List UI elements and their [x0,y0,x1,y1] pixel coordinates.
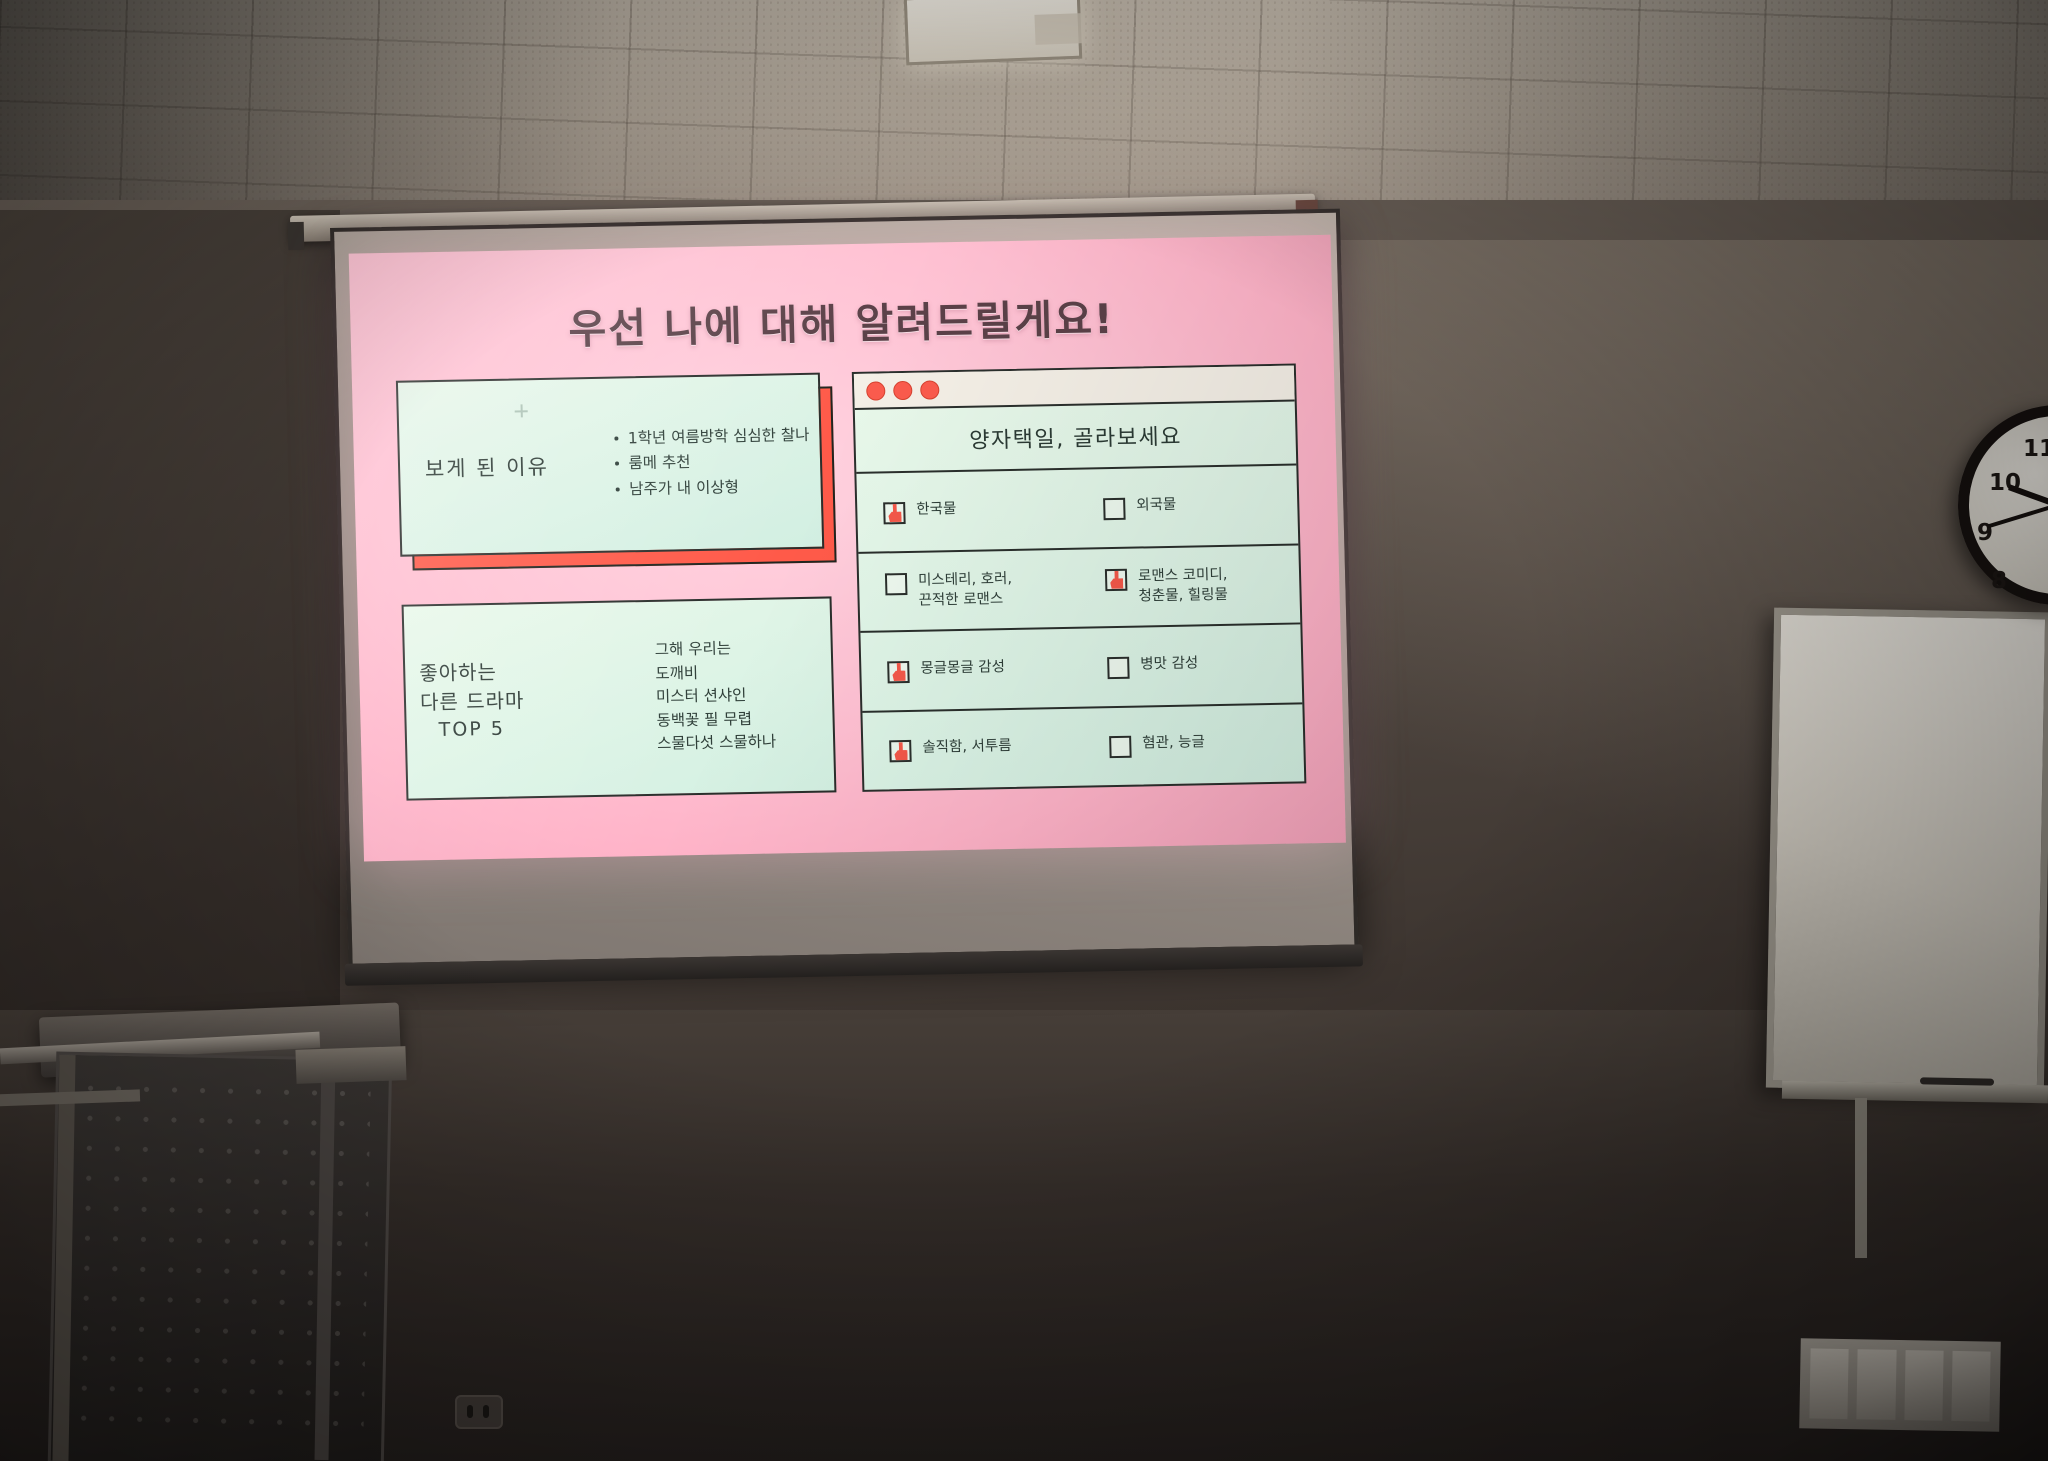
option-honest-awkward[interactable]: 솔직함, 서투름 [863,735,1084,763]
list-item: 도깨비 [655,659,832,686]
clock-minute-hand [1987,503,2048,528]
option-label: 병맛 감성 [1140,653,1198,675]
checkbox-checked-icon[interactable] [883,502,906,524]
clock-hour-hand [2008,484,2048,507]
drama-list: 그해 우리는 도깨비 미스터 션샤인 동백꽃 필 무렵 스물다섯 스물하나 [615,636,834,758]
option-label: 혐관, 능글 [1142,733,1205,755]
projection-screen: 우선 나에 대해 알려드릴게요! 보게 된 이유 1학년 여름방학 심심한 찰나 [330,208,1369,987]
list-item: 그해 우리는 [655,636,832,663]
option-row: 한국물 외국물 [856,465,1298,553]
whiteboard [1766,608,2048,1093]
right-column: 양자택일, 골라보세요 한국물 외국물 [852,363,1307,821]
option-label: 솔직함, 서투름 [922,736,1012,758]
favourite-dramas-card: 좋아하는 다른 드라마 TOP 5 그해 우리는 도깨비 미스터 션샤인 동백꽃… [402,596,837,800]
clock-numeral: 11 [2023,436,2048,462]
label-line-1: 좋아하는 [419,660,497,685]
label-line-2: 다른 드라마 [420,689,525,715]
reason-card: 보게 된 이유 1학년 여름방학 심심한 찰나 룸메 추천 남주가 내 이상형 [396,373,824,557]
wall-outlet [455,1395,503,1429]
left-column: 보게 된 이유 1학년 여름방학 심심한 찰나 룸메 추천 남주가 내 이상형 [396,373,837,831]
window-heading: 양자택일, 골라보세요 [855,402,1297,474]
favourite-dramas-label: 좋아하는 다른 드라마 TOP 5 [405,656,617,746]
presentation-slide: 우선 나에 대해 알려드릴게요! 보게 된 이유 1학년 여름방학 심심한 찰나 [349,235,1346,862]
checkbox-icon[interactable] [1103,498,1126,520]
checkbox-icon[interactable] [1107,656,1130,678]
list-item: 룸메 추천 [613,448,810,477]
option-row: 몽글몽글 감성 병맛 감성 [860,624,1302,712]
checkbox-checked-icon[interactable] [1105,568,1128,590]
checkbox-icon[interactable] [885,573,908,595]
list-item: 동백꽃 필 무렵 [656,706,833,733]
option-label: 외국물 [1136,495,1177,516]
option-label: 로맨스 코미디,청춘물, 힐링물 [1138,565,1228,608]
roller-cap-left [288,222,305,250]
list-item: 남주가 내 이상형 [614,473,811,502]
list-item: 1학년 여름방학 심심한 찰나 [613,423,810,452]
whiteboard-marker [1920,1077,1994,1085]
option-crazy-mood[interactable]: 병맛 감성 [1081,651,1302,679]
option-label: 몽글몽글 감성 [920,657,1005,679]
option-label: 미스테리, 호러,끈적한 로맨스 [918,569,1013,612]
list-item: 스물다섯 스물하나 [657,730,834,757]
option-enemies-to-lovers[interactable]: 혐관, 능글 [1083,731,1304,759]
podium-side-board [295,1046,406,1084]
checkbox-icon[interactable] [1109,736,1132,758]
radiator-fin [1904,1350,1943,1421]
reason-bullet-list: 1학년 여름방학 심심한 찰나 룸메 추천 남주가 내 이상형 [573,423,821,503]
radiator-fin [1951,1351,1990,1422]
clock-numeral: 8 [1991,568,2007,594]
window-dot-minimize-icon[interactable] [893,380,912,399]
crosshair-icon [515,404,528,417]
radiator-fin [1857,1349,1896,1420]
screen-surface: 우선 나에 대해 알려드릴게요! 보게 된 이유 1학년 여름방학 심심한 찰나 [330,209,1359,968]
reason-card-wrapper: 보게 된 이유 1학년 여름방학 심심한 찰나 룸메 추천 남주가 내 이상형 [396,373,831,571]
option-foreign-drama[interactable]: 외국물 [1077,492,1298,520]
option-row: 솔직함, 서투름 혐관, 능글 [862,704,1304,790]
window-mock-panel: 양자택일, 골라보세요 한국물 외국물 [852,363,1307,791]
ceiling-light-fixture-secondary [1034,13,1083,45]
radiator-fin [1809,1348,1848,1419]
label-line-3: TOP 5 [420,714,617,745]
wall-radiator [1799,1338,2001,1431]
option-row: 미스테리, 호러,끈적한 로맨스 로맨스 코미디,청춘물, 힐링물 [858,545,1300,633]
option-label: 한국물 [916,499,957,520]
slide-body: 보게 된 이유 1학년 여름방학 심심한 찰나 룸메 추천 남주가 내 이상형 [396,363,1307,830]
checkbox-checked-icon[interactable] [889,740,912,762]
podium-body [48,1052,393,1461]
option-fluffy-mood[interactable]: 몽글몽글 감성 [861,655,1082,683]
option-romcom-youth[interactable]: 로맨스 코미디,청춘물, 힐링물 [1079,563,1300,608]
classroom-scene: 우선 나에 대해 알려드릴게요! 보게 된 이유 1학년 여름방학 심심한 찰나 [0,0,2048,1461]
window-dot-maximize-icon[interactable] [920,380,939,399]
checkbox-checked-icon[interactable] [887,661,910,683]
option-korean-drama[interactable]: 한국물 [857,496,1078,524]
whiteboard-stand-leg [1855,1098,1867,1258]
reason-card-label: 보게 된 이유 [400,450,574,483]
option-mystery-horror[interactable]: 미스테리, 호러,끈적한 로맨스 [859,567,1080,612]
slide-title: 우선 나에 대해 알려드릴게요! [350,281,1333,360]
list-item: 미스터 션샤인 [656,683,833,710]
window-dot-close-icon[interactable] [866,381,885,400]
